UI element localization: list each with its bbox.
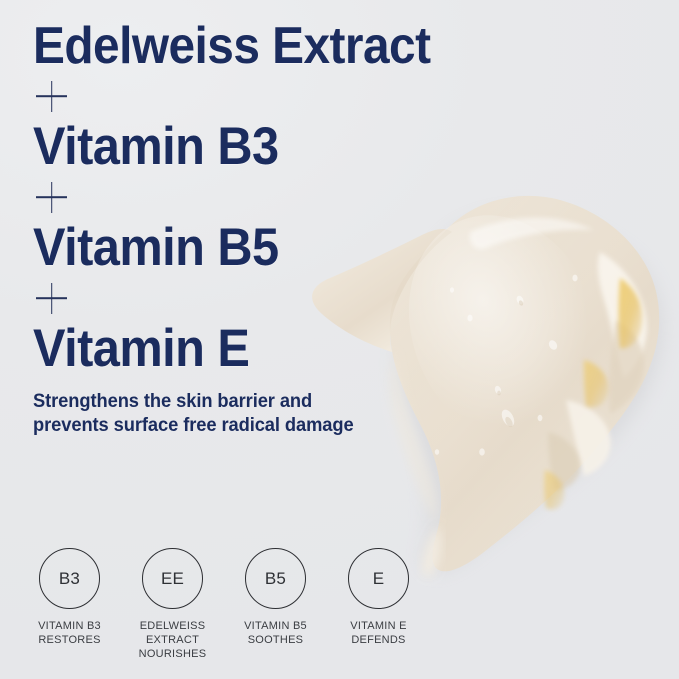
badge-abbr-e: E xyxy=(373,570,385,587)
ingredient-list: Edelweiss Extract Vitamin B3 Vitamin B5 … xyxy=(33,20,503,437)
badge-circle-b3: B3 xyxy=(39,548,100,609)
badge-label-b3: VITAMIN B3 RESTORES xyxy=(38,619,101,647)
ingredient-badge-row: B3 VITAMIN B3 RESTORES EE EDELWEISS EXTR… xyxy=(18,548,438,661)
badge-label-b5: VITAMIN B5 SOOTHES xyxy=(244,619,307,647)
badge-label-ee: EDELWEISS EXTRACT NOURISHES xyxy=(139,619,207,661)
badge-abbr-b5: B5 xyxy=(265,570,286,587)
plus-separator-2 xyxy=(33,173,503,221)
badge-circle-b5: B5 xyxy=(245,548,306,609)
plus-separator-3 xyxy=(33,274,503,322)
badge-label-e: VITAMIN E DEFENDS xyxy=(350,619,406,647)
ingredient-heading-vitamin-b3: Vitamin B3 xyxy=(33,120,465,173)
badge-circle-e: E xyxy=(348,548,409,609)
plus-icon xyxy=(36,81,67,112)
plus-separator-1 xyxy=(33,72,503,120)
badge-circle-ee: EE xyxy=(142,548,203,609)
benefit-description: Strengthens the skin barrier and prevent… xyxy=(33,389,475,437)
product-ingredient-poster: Edelweiss Extract Vitamin B3 Vitamin B5 … xyxy=(0,0,679,679)
ingredient-heading-vitamin-b5: Vitamin B5 xyxy=(33,221,465,274)
badge-vitamin-e: E VITAMIN E DEFENDS xyxy=(327,548,430,661)
badge-vitamin-b5: B5 VITAMIN B5 SOOTHES xyxy=(224,548,327,661)
badge-abbr-ee: EE xyxy=(161,570,184,587)
plus-icon xyxy=(36,182,67,213)
badge-edelweiss-extract: EE EDELWEISS EXTRACT NOURISHES xyxy=(121,548,224,661)
badge-vitamin-b3: B3 VITAMIN B3 RESTORES xyxy=(18,548,121,661)
plus-icon xyxy=(36,283,67,314)
ingredient-heading-vitamin-e: Vitamin E xyxy=(33,322,465,375)
ingredient-heading-edelweiss-extract: Edelweiss Extract xyxy=(33,20,465,72)
badge-abbr-b3: B3 xyxy=(59,570,80,587)
